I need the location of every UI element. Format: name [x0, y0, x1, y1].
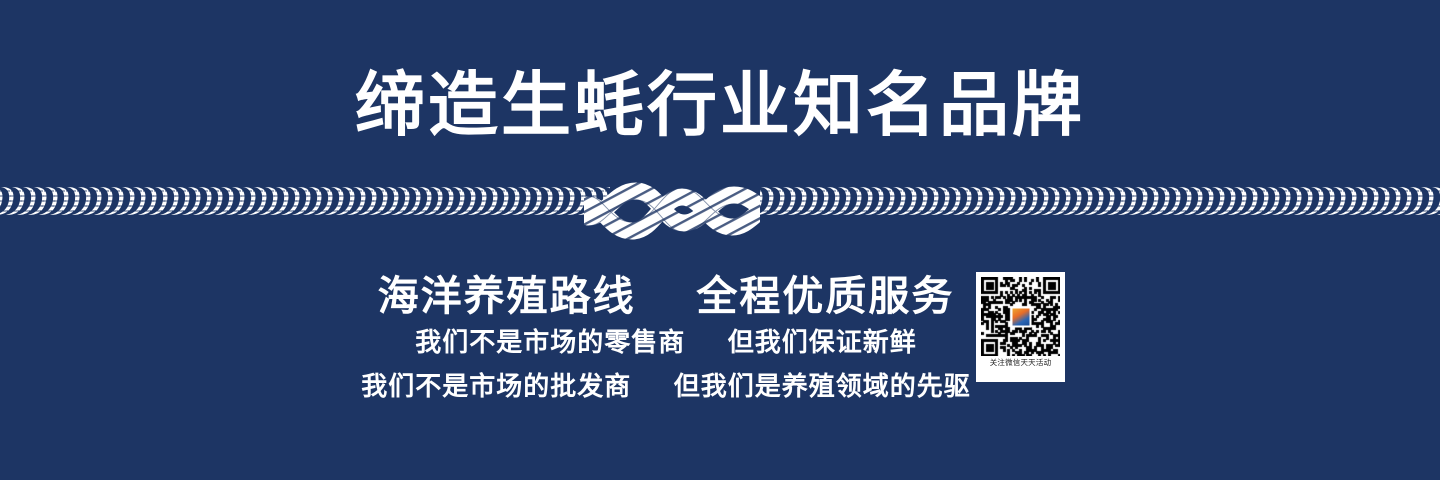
- tagline-2-right: 但我们是养殖领域的先驱: [674, 371, 971, 401]
- rope-strands-left-icon: [0, 183, 610, 219]
- rope-knot-icon: [584, 161, 760, 261]
- qr-center-logo-mark: [1012, 308, 1029, 325]
- tagline-1-right: 但我们保证新鲜: [728, 327, 917, 357]
- qr-center-logo: [1010, 306, 1031, 327]
- tagline-row-1: 我们不是市场的零售商 但我们保证新鲜: [0, 322, 1440, 359]
- promo-banner: 缔造生蚝行业知名品牌: [0, 0, 1440, 480]
- rope-segment-left: [0, 183, 610, 219]
- rope-segment-right: [760, 183, 1440, 219]
- qr-code-icon[interactable]: [981, 277, 1060, 356]
- qr-caption: 关注微信天天活动: [981, 356, 1060, 370]
- tagline-1-left: 我们不是市场的零售商: [415, 327, 685, 357]
- tagline-row-2: 我们不是市场的批发商 但我们是养殖领域的先驱: [0, 366, 1440, 403]
- sub-headline-right: 全程优质服务: [696, 273, 954, 319]
- wechat-qr-card[interactable]: 关注微信天天活动: [976, 272, 1065, 382]
- page-title: 缔造生蚝行业知名品牌: [0, 68, 1440, 144]
- tagline-2-left: 我们不是市场的批发商: [361, 371, 631, 401]
- sub-headline-left: 海洋养殖路线: [378, 273, 636, 319]
- sub-headline: 海洋养殖路线 全程优质服务: [0, 262, 1440, 322]
- rope-strands-right-icon: [760, 183, 1440, 219]
- rope-divider: [0, 183, 1440, 219]
